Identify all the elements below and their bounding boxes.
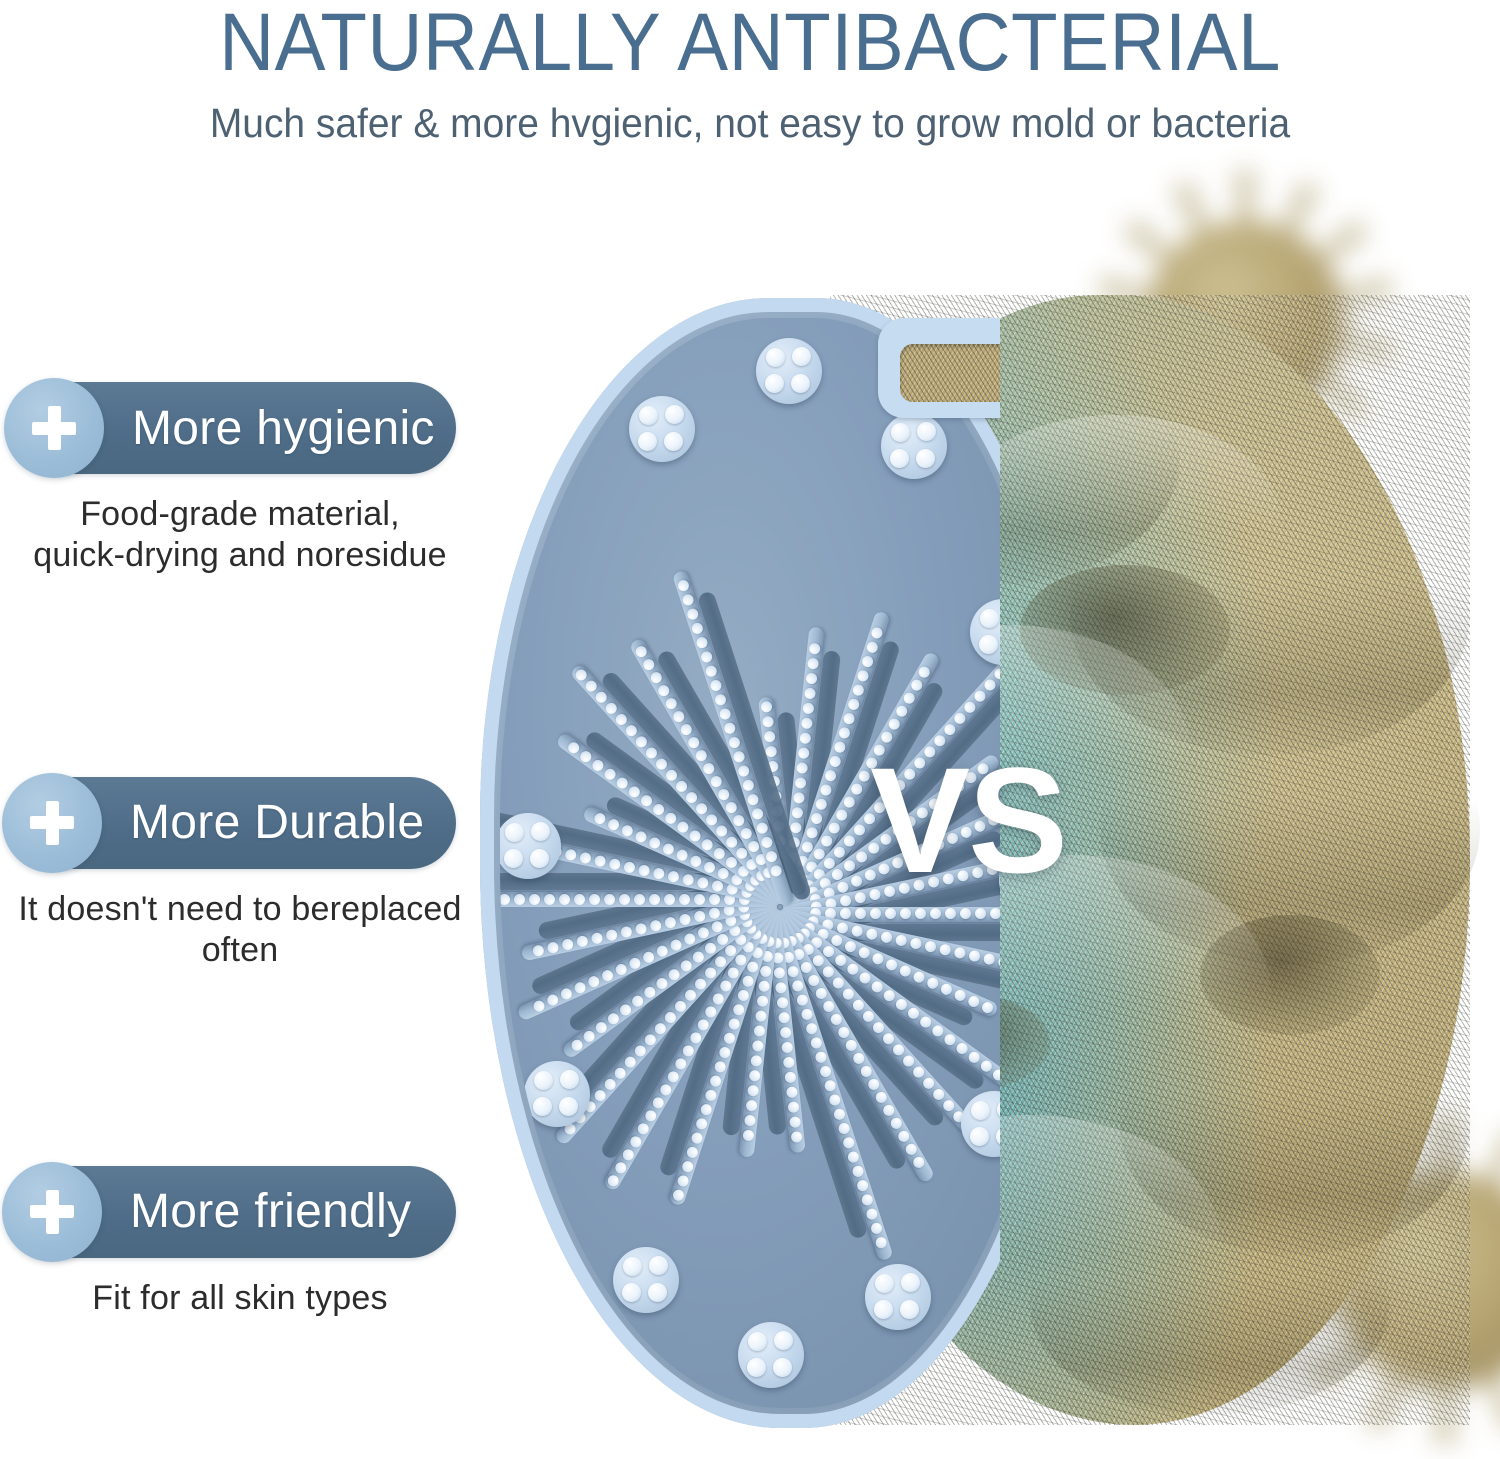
feature-badge-label: More hygienic <box>132 401 435 456</box>
brush-rim-bump <box>500 813 561 879</box>
vs-label: VS <box>870 745 1066 895</box>
header: NATURALLY ANTIBACTERIAL Much safer & mor… <box>0 0 1500 144</box>
caption-line: quick-drying and noresidue <box>5 535 475 576</box>
page-subtitle: Much safer & more hvgienic, not easy to … <box>38 103 1463 144</box>
hanging-hole <box>900 344 1000 402</box>
caption-line: Food-grade material, <box>5 494 475 535</box>
virus-spike <box>1131 227 1176 267</box>
brush-rim-bump <box>524 1061 590 1127</box>
plus-icon <box>4 378 104 478</box>
virus-spike <box>1279 191 1311 239</box>
feature-badge-friendly[interactable]: More friendly <box>12 1166 456 1258</box>
feature-item-hygienic: More hygienic Food-grade material, quick… <box>0 382 480 577</box>
brush-rim-bump <box>613 1247 679 1313</box>
infographic-page: NATURALLY ANTIBACTERIAL Much safer & mor… <box>0 0 1500 1459</box>
feature-badge-label: More friendly <box>130 1184 411 1239</box>
virus-spike <box>1178 191 1210 239</box>
page-title: NATURALLY ANTIBACTERIAL <box>53 0 1448 84</box>
brush-rim-bump <box>756 338 822 404</box>
feature-item-friendly: More friendly Fit for all skin types <box>0 1166 480 1319</box>
hanging-loop <box>878 318 1000 418</box>
feature-list: More hygienic Food-grade material, quick… <box>0 382 480 1319</box>
feature-item-durable: More Durable It doesn't need to bereplac… <box>0 777 480 972</box>
virus-spike <box>1239 179 1252 227</box>
feature-caption-friendly: Fit for all skin types <box>5 1258 475 1319</box>
virus-spike <box>1314 227 1359 267</box>
brush-rim-bump <box>738 1322 804 1388</box>
product-comparison: VS <box>470 170 1500 1459</box>
plus-icon <box>2 773 102 873</box>
feature-caption-durable: It doesn't need to bereplaced often <box>5 869 475 972</box>
caption-line: It doesn't need to bereplaced <box>5 889 475 930</box>
caption-line: Fit for all skin types <box>5 1278 475 1319</box>
brush-rim-bump <box>881 413 947 479</box>
brush-rim-bump <box>970 599 1001 665</box>
feature-badge-durable[interactable]: More Durable <box>12 777 456 869</box>
brush-rim-bump <box>961 1091 1000 1157</box>
caption-line: often <box>5 930 475 971</box>
feature-caption-hygienic: Food-grade material, quick-drying and no… <box>5 474 475 577</box>
feature-badge-hygienic[interactable]: More hygienic <box>14 382 456 474</box>
feature-badge-label: More Durable <box>130 795 424 850</box>
brush-rim-bump <box>865 1264 931 1330</box>
brush-rim-bump <box>629 396 695 462</box>
plus-icon <box>2 1162 102 1262</box>
